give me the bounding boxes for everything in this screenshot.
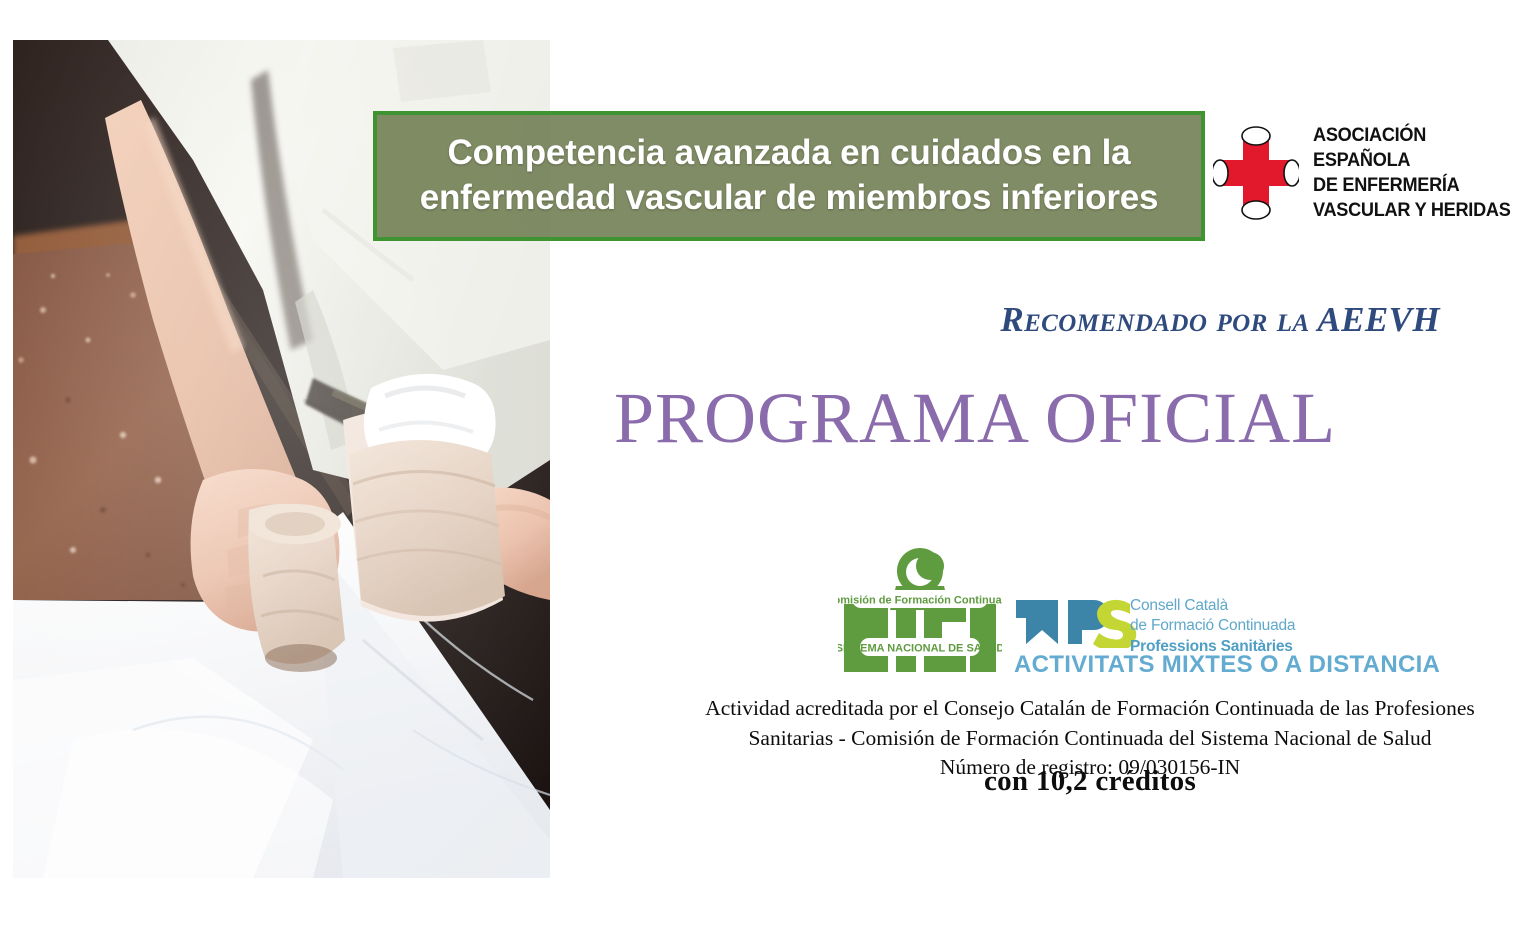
course-title-banner: Competencia avanzada en cuidados en la e…	[373, 111, 1205, 241]
ccfcps-logo-text: Consell Català de Formació Continuada Pr…	[1130, 596, 1295, 657]
course-title-text: Competencia avanzada en cuidados en la e…	[377, 131, 1201, 221]
red-cross-icon	[1213, 125, 1299, 221]
cfc-band-top-label: Comisión de Formación Continuada	[838, 595, 1002, 607]
cfc-band-bottom-label: SISTEMA NACIONAL DE SALUD	[838, 643, 1002, 655]
accreditation-line-1: Actividad acreditada por el Consejo Cata…	[660, 694, 1520, 724]
ccfcps-line-1: Consell Català	[1130, 596, 1295, 616]
recommendation-text: Recomendado por la AEEVH	[640, 300, 1440, 340]
cfc-logo-icon: Comisión de Formación Continuada SISTEMA…	[838, 542, 1002, 678]
ccfcps-tagline: ACTIVITATS MIXTES O A DISTANCIA	[1014, 651, 1440, 679]
aeevh-logo: ASOCIACIÓN ESPAÑOLA DE ENFERMERÍA VASCUL…	[1213, 117, 1513, 229]
aeevh-logo-text: ASOCIACIÓN ESPAÑOLA DE ENFERMERÍA VASCUL…	[1313, 123, 1525, 223]
aeevh-line-1: ASOCIACIÓN	[1313, 123, 1511, 148]
presentation-slide: Competencia avanzada en cuidados en la e…	[0, 0, 1536, 930]
page-title: PROGRAMA OFICIAL	[560, 377, 1390, 460]
aeevh-line-3: DE ENFERMERÍA	[1313, 173, 1511, 198]
accreditation-logos: Comisión de Formación Continuada SISTEMA…	[830, 538, 1360, 684]
aeevh-line-4: VASCULAR Y HERIDAS	[1313, 198, 1511, 223]
ccfcps-mark-icon	[1012, 594, 1142, 648]
credits-text: con 10,2 créditos	[660, 765, 1520, 798]
cfc-logo: Comisión de Formación Continuada SISTEMA…	[838, 542, 1002, 678]
ccfcps-logo: Consell Català de Formació Continuada Pr…	[1012, 594, 1360, 686]
aeevh-line-2: ESPAÑOLA	[1313, 148, 1511, 173]
ccfcps-line-2: de Formació Continuada	[1130, 616, 1295, 636]
accreditation-line-2: Sanitarias - Comisión de Formación Conti…	[660, 724, 1520, 754]
